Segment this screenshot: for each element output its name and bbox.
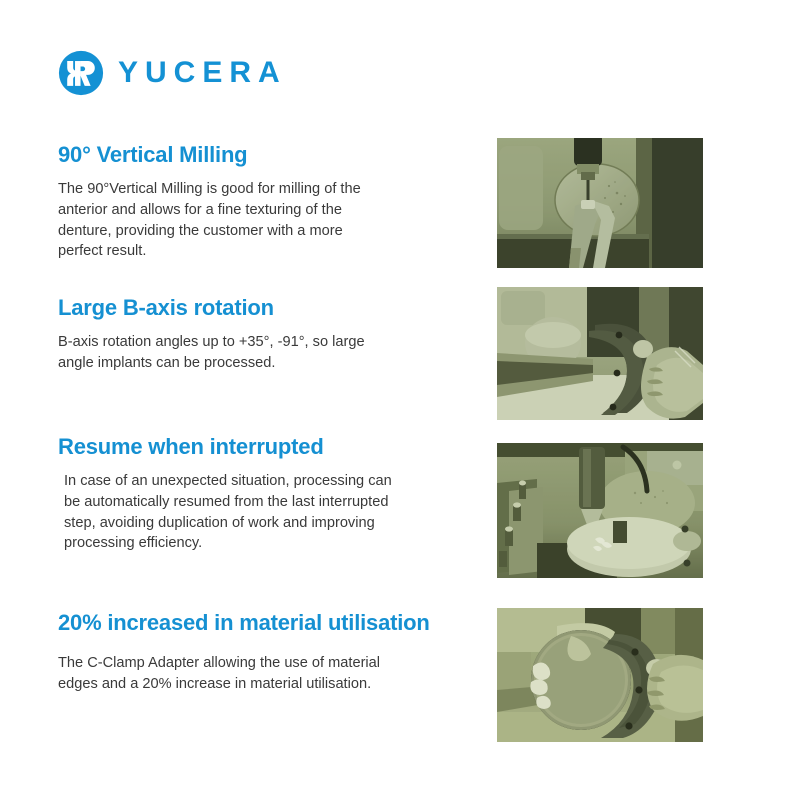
brand-wordmark: YUCERA <box>118 58 287 88</box>
feature-photo-vertical-milling <box>497 138 703 268</box>
feature-body: In case of an unexpected situation, proc… <box>64 471 394 554</box>
feature-heading: Resume when interrupted <box>58 434 478 459</box>
feature-heading: 90° Vertical Milling <box>58 142 478 167</box>
feature-heading: 20% increased in material utilisation <box>58 610 478 635</box>
feature-photo-material-utilisation <box>497 608 703 742</box>
feature-block-b-axis-rotation: Large B-axis rotation B-axis rotation an… <box>58 295 478 374</box>
feature-block-resume-when-interrupted: Resume when interrupted In case of an un… <box>58 434 478 554</box>
feature-block-vertical-milling: 90° Vertical Milling The 90°Vertical Mil… <box>58 142 478 262</box>
feature-body: The C-Clamp Adapter allowing the use of … <box>58 653 398 694</box>
feature-photo-b-axis-rotation <box>497 287 703 420</box>
feature-photo-resume-when-interrupted <box>497 443 703 578</box>
feature-body: The 90°Vertical Milling is good for mill… <box>58 179 388 262</box>
feature-block-material-utilisation: 20% increased in material utilisation Th… <box>58 610 478 695</box>
feature-body: B-axis rotation angles up to +35°, -91°,… <box>58 332 388 373</box>
yucera-yr-monogram-icon <box>58 50 104 96</box>
feature-heading: Large B-axis rotation <box>58 295 478 320</box>
brand-header: YUCERA <box>58 50 287 96</box>
